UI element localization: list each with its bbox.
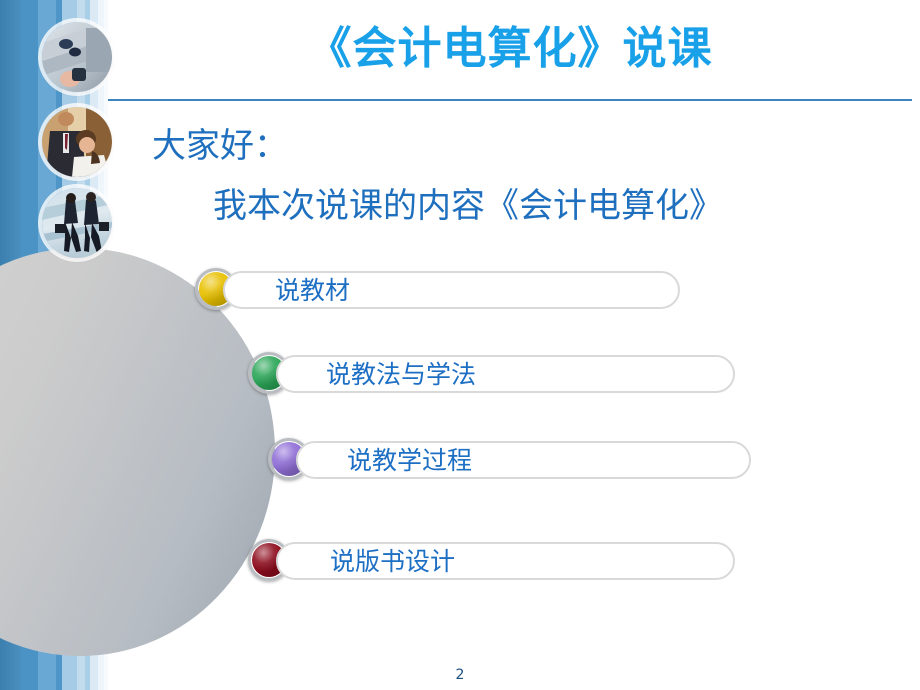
slide-canvas: 《会计电算化》说课 大家好： 我本次说课的内容《会计电算化》 说教材 说教法与学… [0,0,920,690]
agenda-item-2[interactable]: 说教学过程 [268,438,756,486]
photo-business-walking [42,188,112,258]
agenda-item-0[interactable]: 说教材 [195,268,685,316]
greeting-text: 大家好： [152,123,288,169]
agenda-item-label: 说教法与学法 [326,358,476,392]
photo-business-meeting [42,107,112,177]
agenda-item-label: 说教学过程 [347,444,472,478]
slide-title: 《会计电算化》说课 [108,18,912,80]
agenda-item-label: 说版书设计 [330,545,455,579]
agenda-item-3[interactable]: 说版书设计 [248,539,740,587]
title-divider-rule [108,99,912,101]
photo-office-desk [42,22,112,92]
intro-text: 我本次说课的内容《会计电算化》 [213,182,723,230]
agenda-item-label: 说教材 [275,274,350,308]
page-number: 2 [0,667,920,683]
agenda-item-1[interactable]: 说教法与学法 [248,352,740,400]
